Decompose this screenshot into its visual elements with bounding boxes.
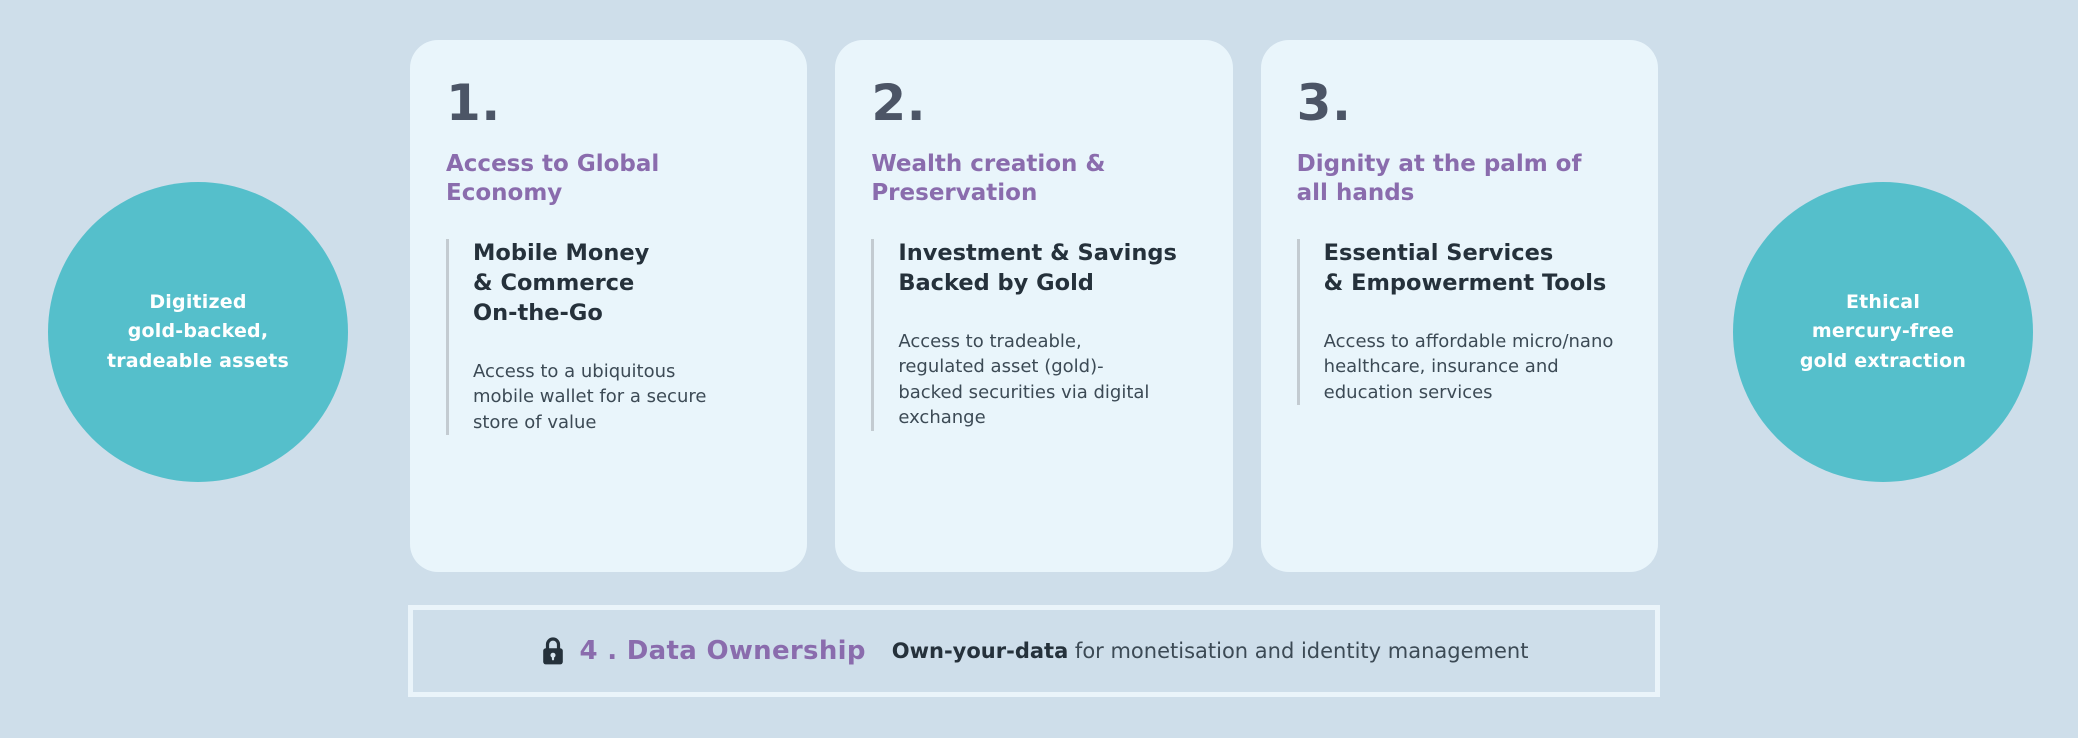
right-circle-label: Ethical mercury-free gold extraction <box>1778 288 1988 376</box>
card-number: 1. <box>446 78 771 128</box>
card-body: Essential Services & Empowerment Tools A… <box>1297 239 1622 405</box>
card-heading: Dignity at the palm of all hands <box>1297 150 1622 209</box>
pillar-card-1: 1. Access to Global Economy Mobile Money… <box>410 40 807 572</box>
banner-description-bold: Own-your-data <box>892 639 1068 663</box>
card-number: 2. <box>871 78 1196 128</box>
left-circle-badge: Digitized gold-backed, tradeable assets <box>48 182 348 482</box>
pillar-card-3: 3. Dignity at the palm of all hands Esse… <box>1261 40 1658 572</box>
right-circle-badge: Ethical mercury-free gold extraction <box>1733 182 2033 482</box>
card-body: Investment & Savings Backed by Gold Acce… <box>871 239 1196 431</box>
banner-description: Own-your-data for monetisation and ident… <box>892 639 1529 663</box>
banner-description-rest: for monetisation and identity management <box>1068 639 1528 663</box>
card-body: Mobile Money & Commerce On-the-Go Access… <box>446 239 771 435</box>
left-circle-label: Digitized gold-backed, tradeable assets <box>85 288 311 376</box>
card-heading: Wealth creation & Preservation <box>871 150 1196 209</box>
card-body-description: Access to tradeable, regulated asset (go… <box>898 329 1196 431</box>
lock-icon <box>540 636 566 666</box>
card-body-description: Access to a ubiquitous mobile wallet for… <box>473 359 771 436</box>
pillar-cards-row: 1. Access to Global Economy Mobile Money… <box>410 40 1658 572</box>
card-body-title: Mobile Money & Commerce On-the-Go <box>473 239 771 329</box>
card-body-title: Investment & Savings Backed by Gold <box>898 239 1196 299</box>
card-body-title: Essential Services & Empowerment Tools <box>1324 239 1622 299</box>
infographic-canvas: Digitized gold-backed, tradeable assets … <box>0 0 2078 738</box>
card-heading: Access to Global Economy <box>446 150 771 209</box>
card-number: 3. <box>1297 78 1622 128</box>
data-ownership-banner: 4 . Data Ownership Own-your-data for mon… <box>408 605 1660 697</box>
banner-step-label: 4 . Data Ownership <box>580 636 866 666</box>
pillar-card-2: 2. Wealth creation & Preservation Invest… <box>835 40 1232 572</box>
card-body-description: Access to affordable micro/nano healthca… <box>1324 329 1622 406</box>
